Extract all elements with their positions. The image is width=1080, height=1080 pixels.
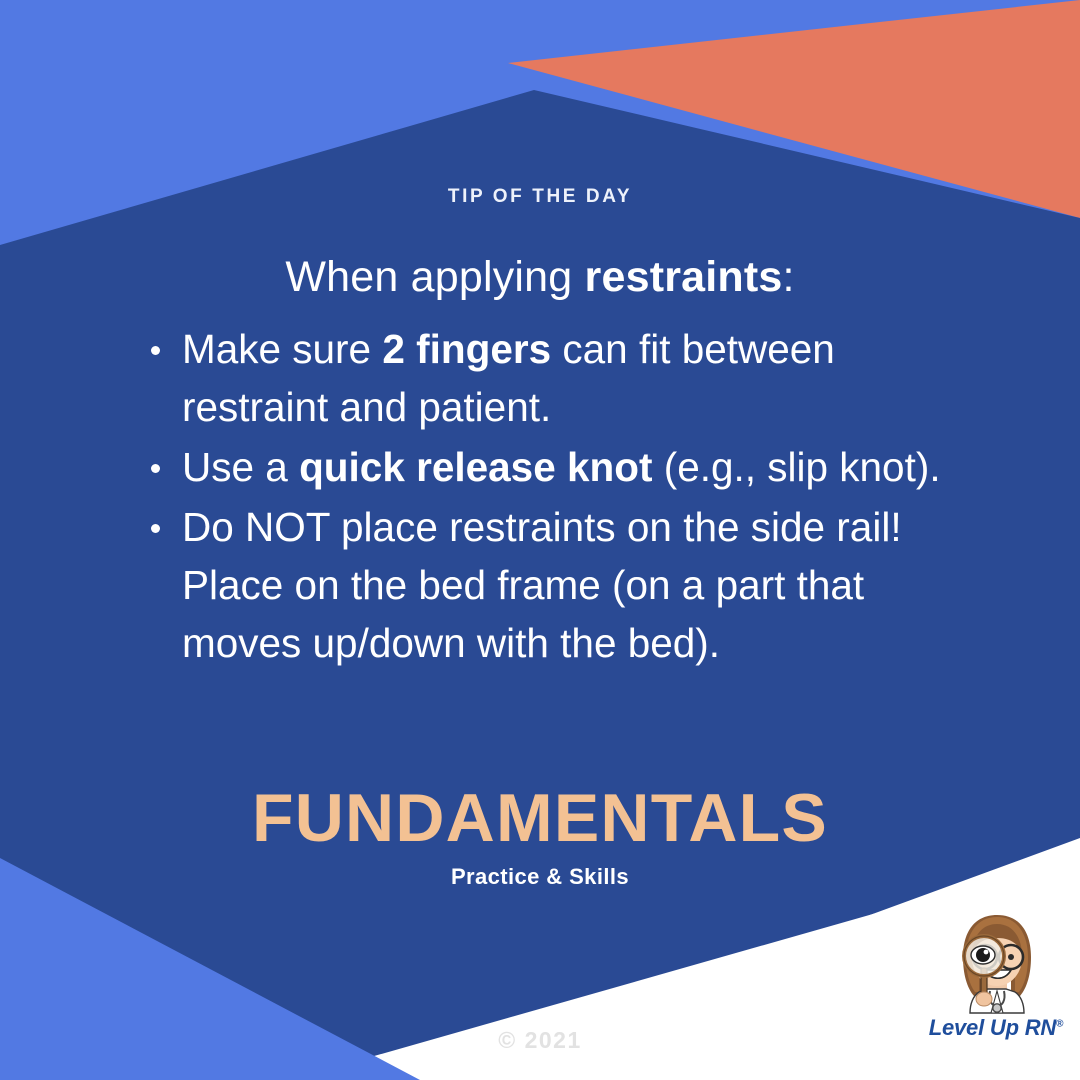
page-title: When applying restraints: (0, 253, 1080, 302)
logo-wordmark: Level Up RN® (921, 1015, 1071, 1041)
brand-title: FUNDAMENTALS (0, 779, 1080, 857)
headline-trail: : (783, 253, 795, 301)
list-item-text: Make sure 2 fingers can fit between rest… (182, 326, 835, 430)
list-item: Make sure 2 fingers can fit between rest… (145, 320, 990, 436)
list-item-text: Do NOT place restraints on the side rail… (182, 504, 902, 666)
bullet-icon (151, 524, 160, 533)
social-tip-card: TIP OF THE DAY When applying restraints:… (0, 0, 1080, 1080)
copyright-text: © 2021 (0, 1027, 1080, 1054)
headline-emphasis: restraints (585, 253, 783, 301)
registered-mark: ® (1056, 1019, 1063, 1030)
brand-logo: Level Up RN® (921, 912, 1071, 1052)
bullet-icon (151, 346, 160, 355)
logo-wordmark-text: Level Up RN (929, 1015, 1056, 1040)
nurse-with-magnifying-glass-icon (943, 912, 1051, 1016)
brand-subtitle: Practice & Skills (0, 864, 1080, 890)
list-item-text: Use a quick release knot (e.g., slip kno… (182, 444, 941, 490)
bullet-icon (151, 464, 160, 473)
tip-list: Make sure 2 fingers can fit between rest… (145, 320, 990, 674)
list-item: Do NOT place restraints on the side rail… (145, 498, 990, 672)
list-item: Use a quick release knot (e.g., slip kno… (145, 438, 990, 496)
kicker-label: TIP OF THE DAY (0, 186, 1080, 208)
headline-lead: When applying (285, 253, 584, 301)
